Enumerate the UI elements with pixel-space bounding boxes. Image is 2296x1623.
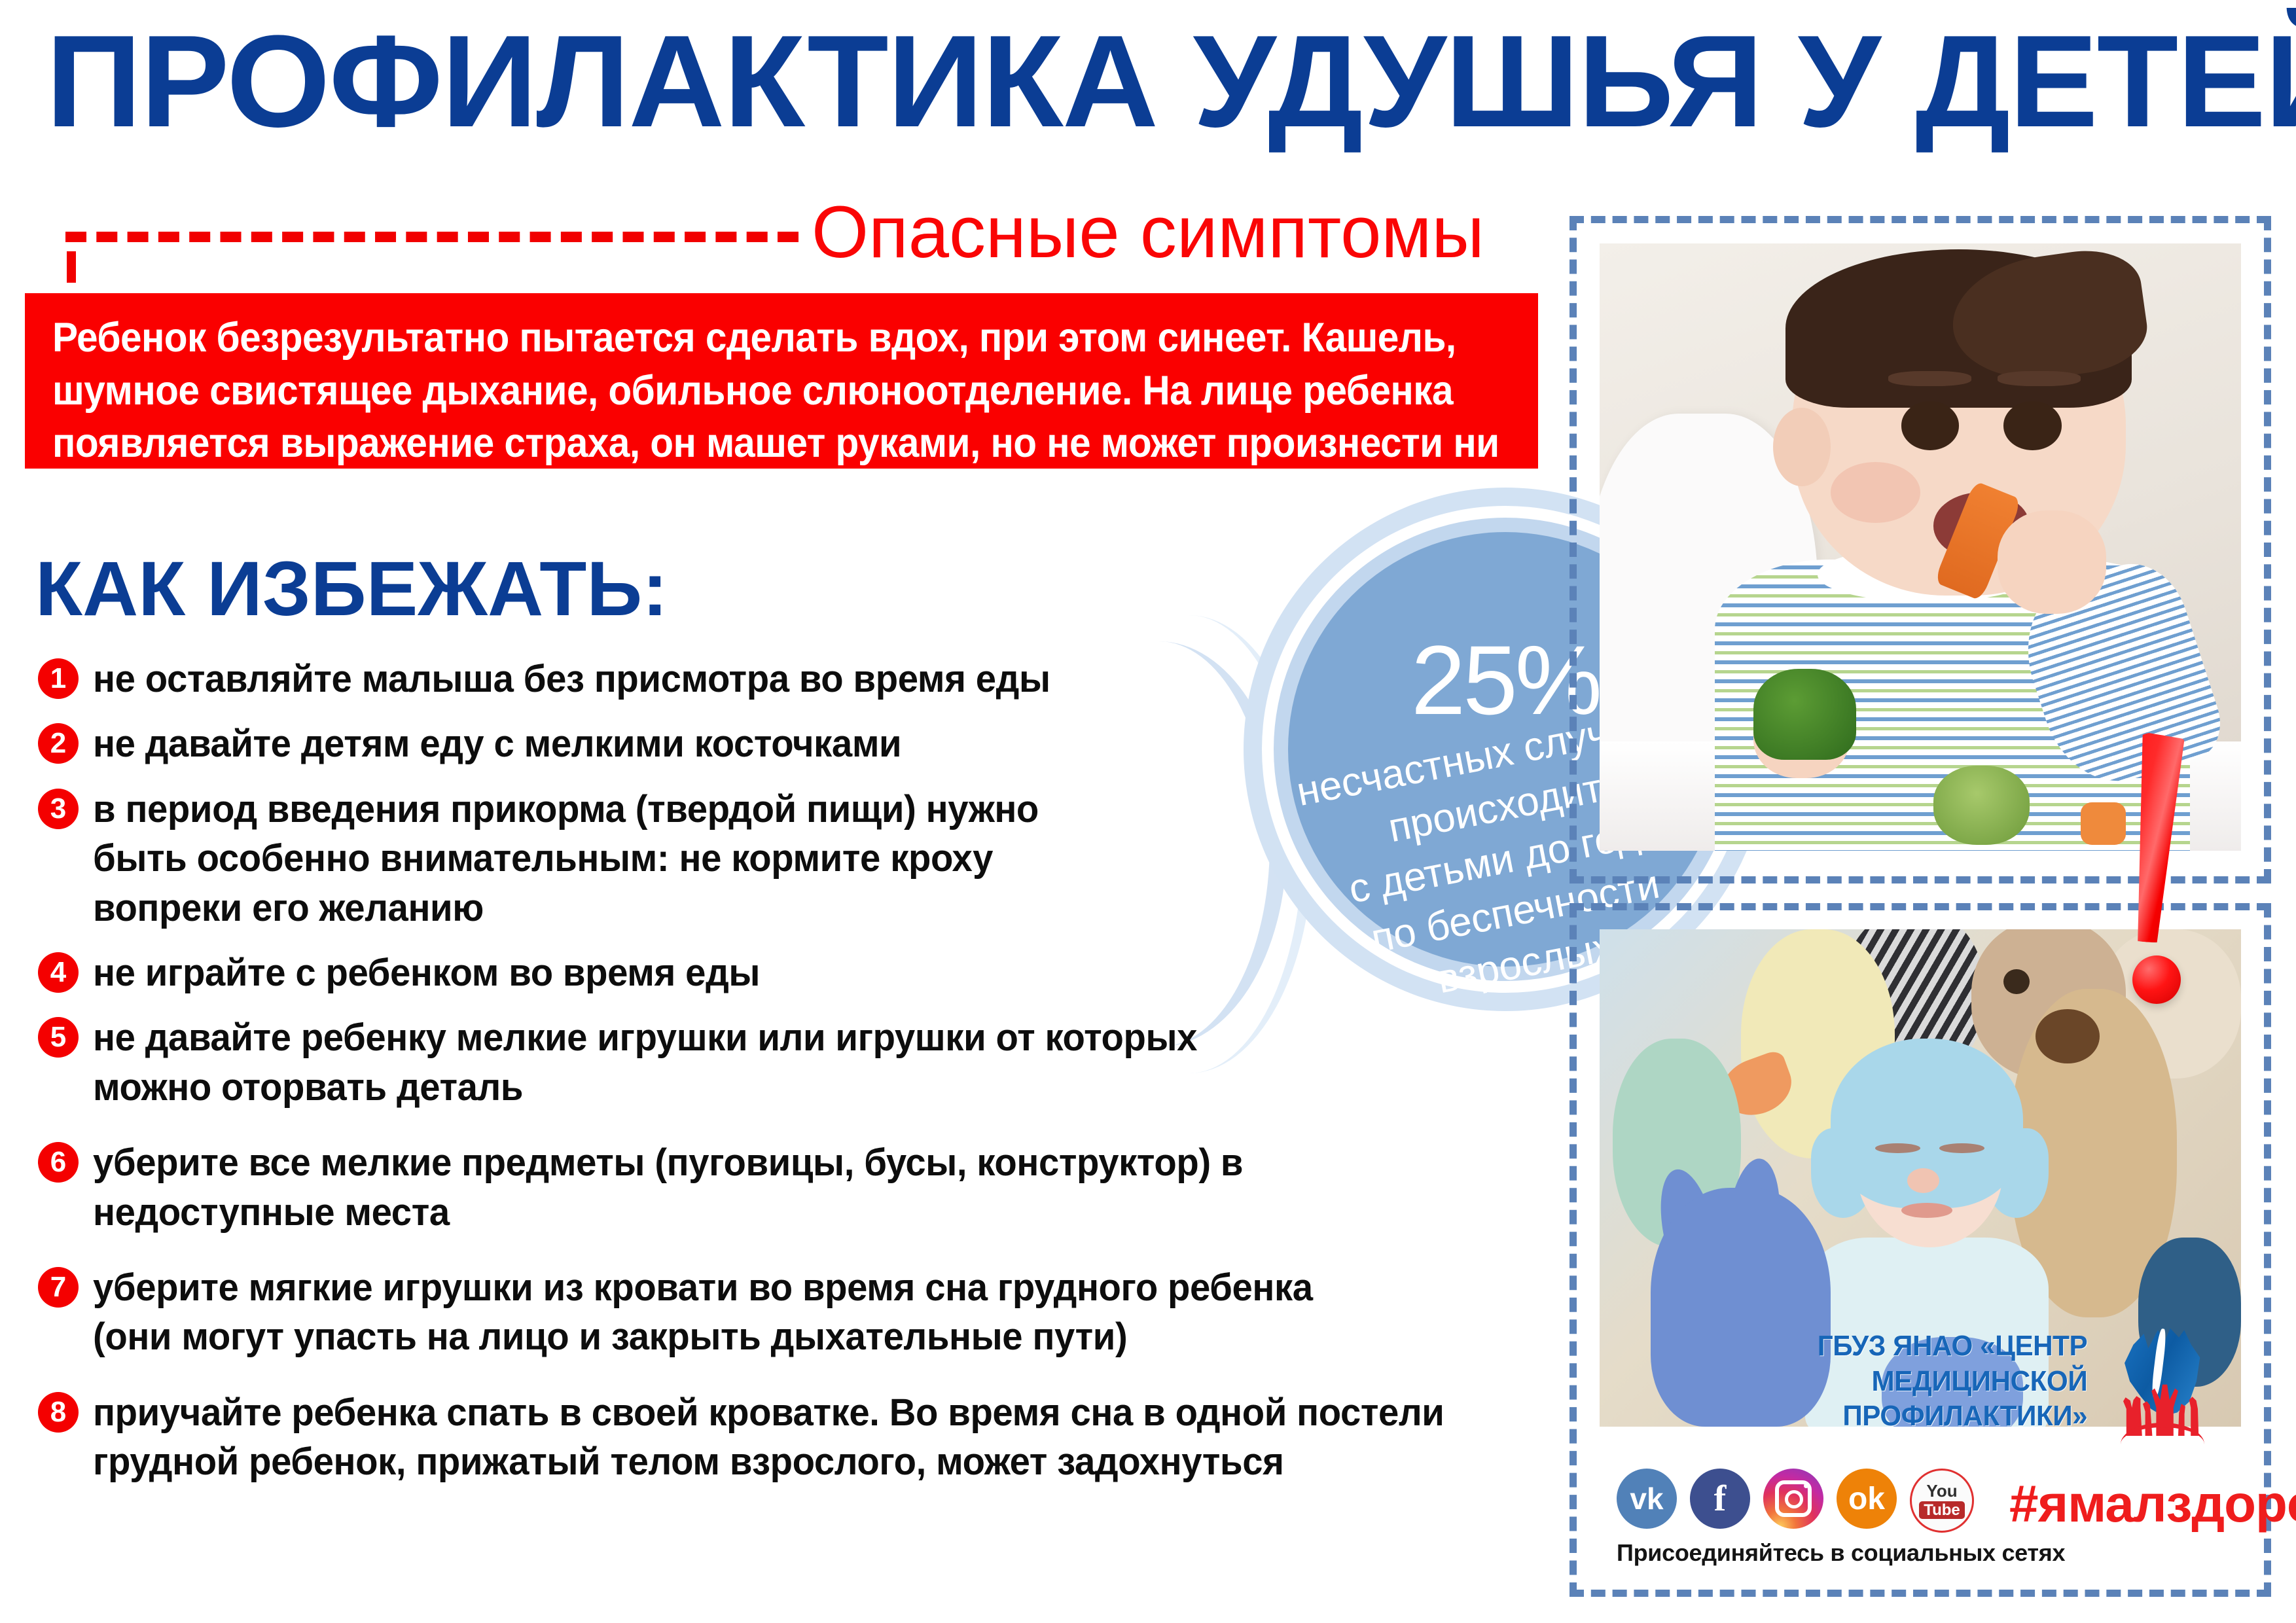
danger-symptoms-box: Ребенок безрезультатно пытается сделать …: [25, 293, 1538, 469]
tip-text: уберите мягкие игрушки из кровати во вре…: [93, 1263, 1401, 1362]
tip-text: не оставляйте малыша без присмотра во вр…: [93, 654, 1050, 704]
odnoklassniki-icon[interactable]: ok: [1837, 1469, 1897, 1529]
exclamation-mark-icon: [2121, 733, 2193, 1008]
instagram-icon[interactable]: [1763, 1469, 1823, 1529]
tip-text: не давайте ребенку мелкие игрушки или иг…: [93, 1013, 1248, 1112]
closed-eye-left: [1875, 1143, 1920, 1153]
organization-name-line-2: ПРОФИЛАКТИКИ»: [1604, 1399, 2087, 1434]
baby-ear: [1773, 408, 1831, 487]
tip-text: уберите все мелкие предметы (пуговицы, б…: [93, 1138, 1287, 1237]
tip-number-badge: 8: [38, 1392, 79, 1433]
baby-hand-right: [1998, 510, 2107, 614]
social-caption: Присоединяйтесь в социальных сетях: [1617, 1539, 2065, 1567]
how-to-avoid-heading: КАК ИЗБЕЖАТЬ:: [35, 544, 668, 633]
tip-number-badge: 5: [38, 1017, 79, 1058]
baby-eye-left: [1901, 401, 1959, 450]
bear-eye: [2003, 969, 2029, 994]
red-dashed-rule: [65, 232, 798, 242]
subtitle: Опасные симптомы: [812, 190, 1484, 274]
list-item: 7 уберите мягкие игрушки из кровати во в…: [38, 1263, 1583, 1362]
baby-eye-right: [2003, 401, 2061, 450]
tip-text: не давайте детям еду с мелкими косточкам…: [93, 719, 901, 768]
yamal-logo: [2114, 1325, 2212, 1439]
page-title: ПРОФИЛАКТИКА УДУШЬЯ У ДЕТЕЙ: [46, 20, 2296, 144]
vk-icon[interactable]: vk: [1617, 1469, 1677, 1529]
list-item: 8 приучайте ребенка спать в своей кроват…: [38, 1388, 1583, 1487]
tip-number-badge: 6: [38, 1142, 79, 1183]
tip-number-badge: 2: [38, 723, 79, 764]
youtube-tube-text: Tube: [1919, 1501, 1965, 1519]
closed-eye-right: [1939, 1143, 1984, 1153]
red-tick-mark: [67, 251, 76, 283]
organization-name: ГБУЗ ЯНАО «ЦЕНТР МЕДИЦИНСКОЙ ПРОФИЛАКТИК…: [1604, 1329, 2087, 1434]
exclamation-stem: [2117, 731, 2192, 944]
youtube-you-text: You: [1926, 1482, 1957, 1499]
tip-text: не играйте с ребенком во время еды: [93, 948, 760, 997]
baby-mouth: [1901, 1203, 1952, 1218]
facebook-icon[interactable]: f: [1690, 1469, 1750, 1529]
tip-number-badge: 3: [38, 789, 79, 829]
tip-text: приучайте ребенка спать в своей кроватке…: [93, 1388, 1515, 1487]
baby-nose: [1907, 1168, 1939, 1193]
tip-number-badge: 7: [38, 1267, 79, 1308]
instagram-dot: [1804, 1484, 1808, 1488]
organization-name-line-1: ГБУЗ ЯНАО «ЦЕНТР МЕДИЦИНСКОЙ: [1604, 1329, 2087, 1399]
broccoli-held: [1753, 669, 1856, 760]
social-links-row: vk f ok You Tube #ямалздоров: [1617, 1469, 2245, 1547]
tip-number-badge: 1: [38, 658, 79, 699]
carrot-on-tray: [2081, 802, 2126, 845]
instagram-lens: [1785, 1490, 1803, 1508]
youtube-icon[interactable]: You Tube: [1910, 1469, 1974, 1533]
broccoli-on-tray: [1933, 766, 2030, 845]
hashtag: #ямалздоров: [2009, 1474, 2296, 1534]
baby-cheek: [1831, 462, 1920, 523]
baby-eyebrow-left: [1888, 371, 1971, 386]
tip-number-badge: 4: [38, 952, 79, 993]
exclamation-dot: [2132, 955, 2181, 1004]
baby-eyebrow-right: [1998, 371, 2081, 386]
tip-text: в период введения прикорма (твердой пищи…: [93, 785, 1083, 933]
list-item: 6 уберите все мелкие предметы (пуговицы,…: [38, 1138, 1583, 1237]
instagram-glyph: [1775, 1480, 1812, 1517]
subtitle-row: Опасные симптомы: [59, 196, 1564, 268]
list-item: 5 не давайте ребенку мелкие игрушки или …: [38, 1013, 1583, 1112]
bear-snout: [2036, 1009, 2100, 1064]
